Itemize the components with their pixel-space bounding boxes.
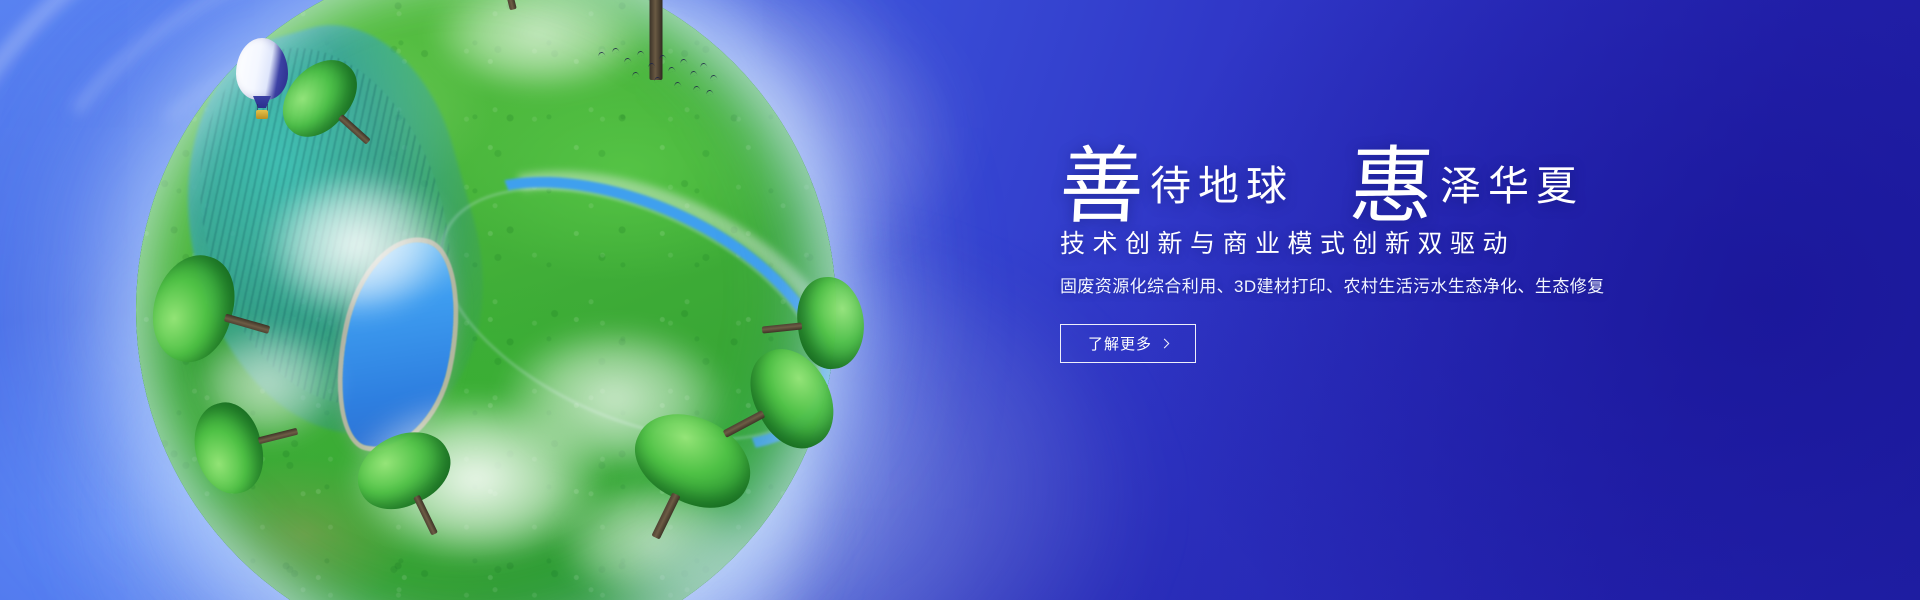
- bird-icon: [648, 62, 656, 68]
- tree-crown: [793, 274, 868, 372]
- chevron-right-icon: [1160, 339, 1170, 349]
- bird-icon: [654, 76, 662, 82]
- bird-icon: [659, 54, 667, 60]
- bird-icon: [674, 81, 682, 87]
- hero-banner: 善 待地球 惠 泽华夏 技术创新与商业模式创新双驱动 固废资源化综合利用、3D建…: [0, 0, 1920, 600]
- hero-tree: [566, 0, 746, 28]
- headline-text-daidiqiu: 待地球: [1144, 166, 1294, 219]
- bird-icon: [706, 89, 714, 95]
- learn-more-button[interactable]: 了解更多: [1060, 324, 1196, 363]
- page-title: 善 待地球 惠 泽华夏: [1060, 142, 1700, 219]
- bird-icon: [690, 70, 698, 76]
- cloud-mist: [262, 170, 452, 320]
- bird-icon: [637, 50, 645, 56]
- learn-more-label: 了解更多: [1088, 333, 1152, 354]
- flock-of-birds: [596, 46, 726, 98]
- hot-air-balloon-icon: [236, 38, 288, 124]
- headline-char-hui: 惠: [1348, 148, 1436, 225]
- headline-text-zehuaxia: 泽华夏: [1434, 166, 1584, 219]
- rim-tree: [777, 274, 868, 374]
- bird-icon: [710, 74, 718, 80]
- hero-content: 善 待地球 惠 泽华夏 技术创新与商业模式创新双驱动 固废资源化综合利用、3D建…: [1060, 142, 1700, 363]
- bird-icon: [668, 66, 676, 72]
- balloon-basket: [256, 110, 268, 119]
- balloon-skirt: [253, 96, 271, 108]
- headline-char-shan: 善: [1058, 148, 1146, 225]
- bird-icon: [680, 58, 688, 64]
- bird-icon: [693, 85, 701, 91]
- hero-description: 固废资源化综合利用、3D建材打印、农村生活污水生态净化、生态修复: [1060, 276, 1700, 298]
- bird-icon: [632, 71, 640, 77]
- bird-icon: [624, 57, 632, 63]
- bird-icon: [598, 51, 606, 57]
- bird-icon: [700, 62, 708, 68]
- balloon-envelope: [236, 38, 288, 100]
- bird-icon: [612, 47, 620, 53]
